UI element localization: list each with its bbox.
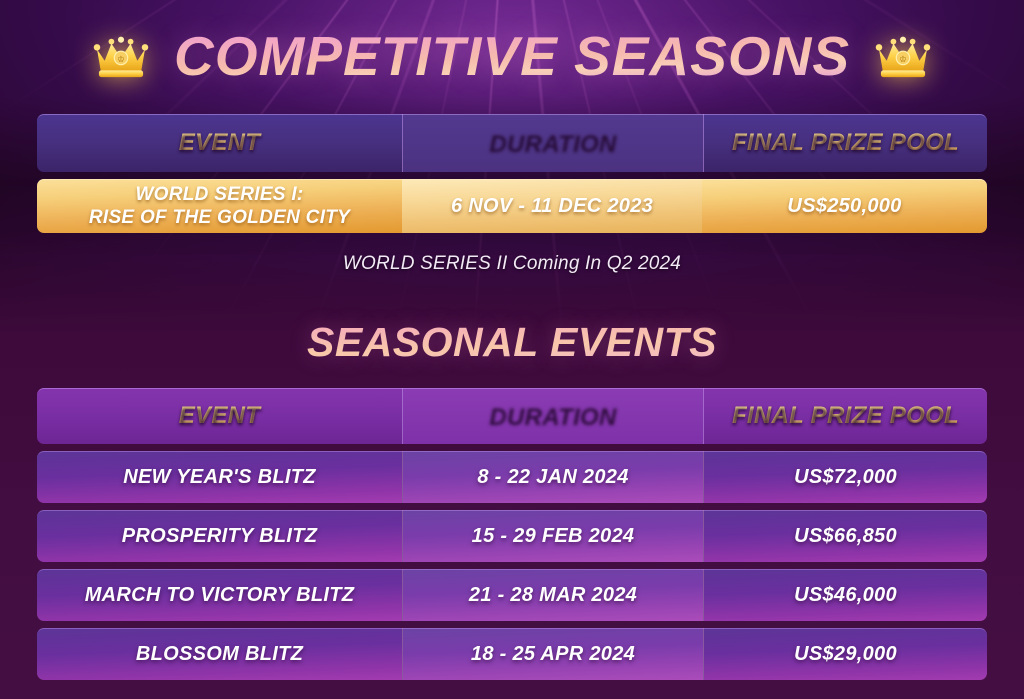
cell-event: WORLD SERIES I: RISE OF THE GOLDEN CITY bbox=[37, 179, 402, 233]
page-root: ♔ COMPETITIVE SEASONS ♔ EVENT DURATION F… bbox=[0, 0, 1024, 699]
table-row[interactable]: WORLD SERIES I: RISE OF THE GOLDEN CITY … bbox=[37, 179, 987, 233]
cell-event: BLOSSOM BLITZ bbox=[37, 628, 402, 680]
table-row[interactable]: MARCH TO VICTORY BLITZ21 - 28 MAR 2024US… bbox=[37, 569, 987, 621]
cell-event: NEW YEAR'S BLITZ bbox=[37, 451, 402, 503]
crown-icon: ♔ bbox=[872, 32, 934, 80]
cell-duration: 21 - 28 MAR 2024 bbox=[403, 569, 703, 621]
competitive-seasons-table: EVENT DURATION FINAL PRIZE POOL WORLD SE… bbox=[37, 114, 987, 233]
event-name-line2: RISE OF THE GOLDEN CITY bbox=[89, 207, 350, 229]
cell-event: PROSPERITY BLITZ bbox=[37, 510, 402, 562]
table-row[interactable]: BLOSSOM BLITZ18 - 25 APR 2024US$29,000 bbox=[37, 628, 987, 680]
table-header-row: EVENT DURATION FINAL PRIZE POOL bbox=[37, 388, 987, 444]
seasonal-rows-container: NEW YEAR'S BLITZ8 - 22 JAN 2024US$72,000… bbox=[37, 451, 987, 680]
cell-duration: 8 - 22 JAN 2024 bbox=[403, 451, 703, 503]
page-title: ♔ COMPETITIVE SEASONS ♔ bbox=[0, 0, 1024, 100]
cell-event: MARCH TO VICTORY BLITZ bbox=[37, 569, 402, 621]
event-name-line1: WORLD SERIES I: bbox=[135, 184, 303, 206]
column-header-duration: DURATION bbox=[403, 114, 703, 172]
crown-icon: ♔ bbox=[90, 32, 152, 80]
cell-duration: 18 - 25 APR 2024 bbox=[403, 628, 703, 680]
table-row[interactable]: PROSPERITY BLITZ15 - 29 FEB 2024US$66,85… bbox=[37, 510, 987, 562]
column-header-event: EVENT bbox=[37, 388, 402, 444]
column-header-prize: FINAL PRIZE POOL bbox=[704, 388, 987, 444]
seasonal-events-table: EVENT DURATION FINAL PRIZE POOL NEW YEAR… bbox=[37, 388, 987, 680]
svg-text:♔: ♔ bbox=[899, 54, 907, 64]
cell-prize: US$46,000 bbox=[704, 569, 987, 621]
main-title-text: COMPETITIVE SEASONS bbox=[174, 24, 850, 88]
cell-duration: 15 - 29 FEB 2024 bbox=[403, 510, 703, 562]
coming-soon-note: WORLD SERIES II Coming In Q2 2024 bbox=[0, 253, 1024, 275]
cell-prize: US$250,000 bbox=[702, 179, 987, 233]
cell-prize: US$29,000 bbox=[704, 628, 987, 680]
cell-prize: US$66,850 bbox=[704, 510, 987, 562]
column-header-event: EVENT bbox=[37, 114, 402, 172]
svg-text:♔: ♔ bbox=[117, 54, 125, 64]
seasonal-events-title: SEASONAL EVENTS bbox=[0, 319, 1024, 366]
column-header-prize: FINAL PRIZE POOL bbox=[704, 114, 987, 172]
cell-prize: US$72,000 bbox=[704, 451, 987, 503]
cell-duration: 6 NOV - 11 DEC 2023 bbox=[402, 179, 702, 233]
table-row[interactable]: NEW YEAR'S BLITZ8 - 22 JAN 2024US$72,000 bbox=[37, 451, 987, 503]
column-header-duration: DURATION bbox=[403, 388, 703, 444]
table-header-row: EVENT DURATION FINAL PRIZE POOL bbox=[37, 114, 987, 172]
